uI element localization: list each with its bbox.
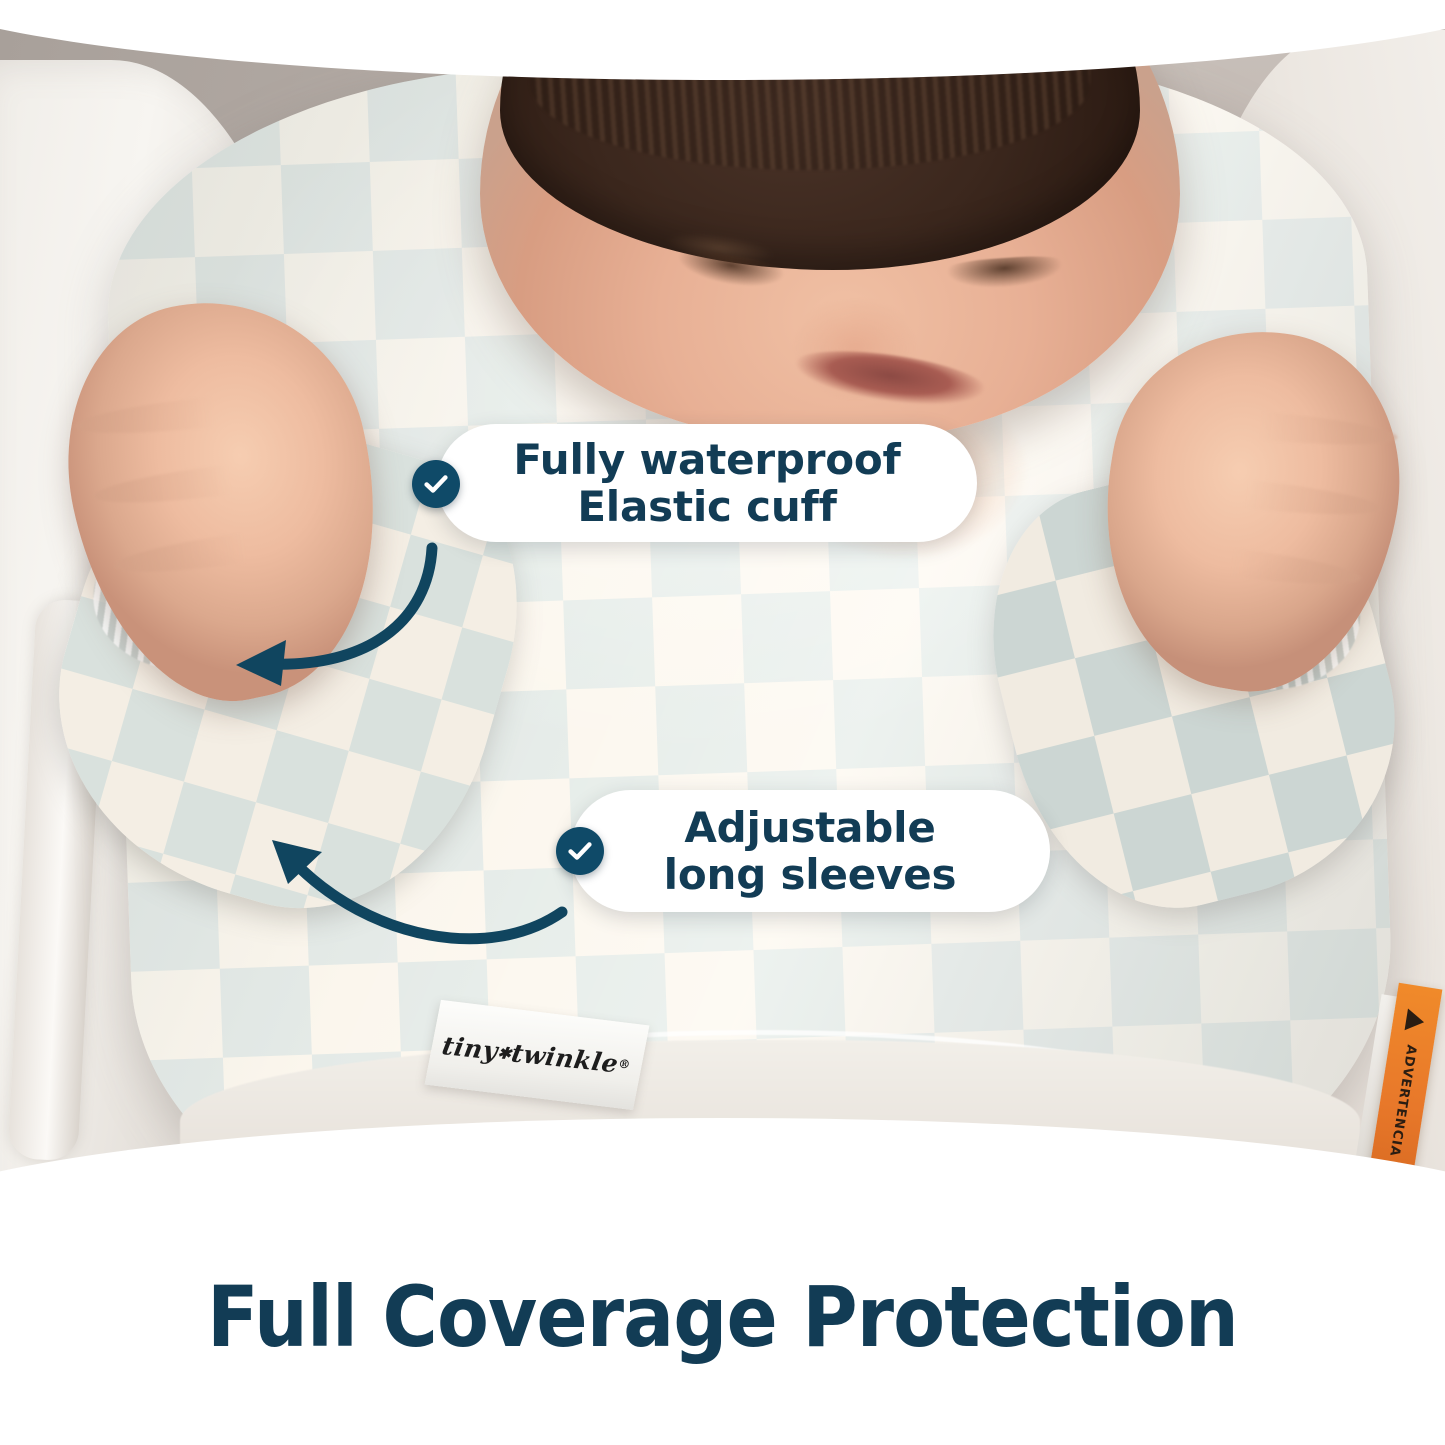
brand-label-text: tiny✱twinkle®	[440, 1031, 633, 1079]
finger	[92, 451, 344, 511]
headline-full-coverage-protection: Full Coverage Protection	[72, 1268, 1373, 1366]
finger	[1125, 535, 1363, 592]
callout-text-adjustable-sleeves: Adjustable long sleeves	[664, 804, 957, 898]
check-circle-icon	[556, 827, 604, 875]
finger	[1135, 469, 1383, 523]
callout-pill-waterproof-cuff[interactable]: Fully waterproof Elastic cuff	[437, 424, 977, 542]
finger	[1147, 402, 1398, 452]
finger	[74, 385, 331, 441]
photo-scene: tiny✱twinkle® ADVERTENCIA	[0, 0, 1445, 1260]
callout-text-waterproof-cuff: Fully waterproof Elastic cuff	[513, 436, 900, 530]
callout-line-1: Fully waterproof	[513, 435, 900, 484]
brand-name-second: twinkle	[510, 1038, 622, 1078]
bottom-arch-mask	[0, 1118, 1445, 1260]
brand-name-first: tiny	[440, 1031, 501, 1065]
product-feature-card: tiny✱twinkle® ADVERTENCIA Fully waterpro…	[0, 0, 1445, 1445]
callout-line-2: long sleeves	[664, 850, 957, 899]
registered-mark: ®	[618, 1056, 633, 1071]
callout-line-2: Elastic cuff	[577, 482, 836, 531]
product-photo: tiny✱twinkle® ADVERTENCIA	[0, 0, 1445, 1260]
callout-pill-adjustable-sleeves[interactable]: Adjustable long sleeves	[570, 790, 1050, 912]
warning-tag-text: ADVERTENCIA	[1386, 1044, 1419, 1158]
warning-triangle-icon	[1405, 1009, 1426, 1034]
callout-line-1: Adjustable	[684, 803, 935, 852]
finger	[113, 518, 355, 581]
check-circle-icon	[412, 460, 460, 508]
